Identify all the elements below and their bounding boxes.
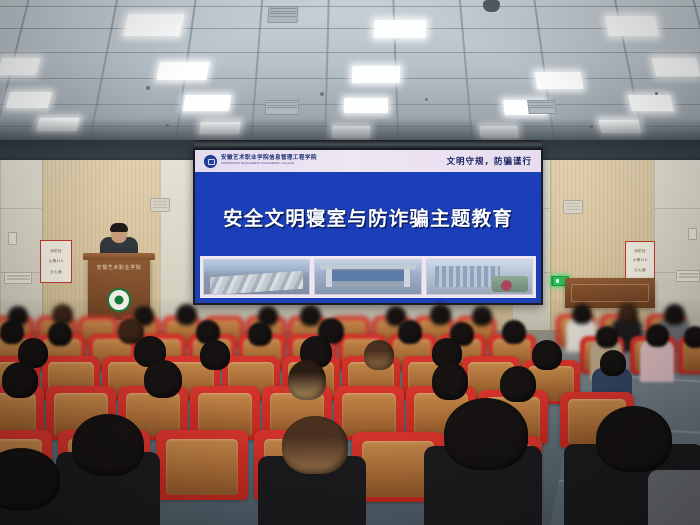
light-switch-plate[interactable]: [8, 232, 17, 245]
ceiling-camera: [483, 0, 500, 12]
sprinkler-dot: [320, 92, 324, 96]
audience-head: [664, 304, 685, 325]
audience-head: [300, 305, 321, 326]
projection-screen: 安徽艺术职业学院信息管理工程学院 INFORMATION MANAGEMENT …: [193, 148, 543, 305]
safety-sign-left: 消防栓 火警119 灭火器: [40, 240, 72, 283]
slide-title: 安全文明寝室与防诈骗主题教育: [223, 202, 513, 231]
light-switch-plate[interactable]: [688, 228, 697, 240]
sprinkler-dot: [425, 98, 428, 101]
campus-photo-gate: [314, 259, 421, 295]
audience-head: [432, 362, 468, 400]
wall-speaker: [563, 200, 583, 214]
ceiling-lamp: [352, 66, 401, 83]
audience-head: [596, 326, 618, 348]
audience-head: [248, 322, 272, 346]
sprinkler-dot: [146, 86, 150, 90]
audience-head: [596, 406, 672, 472]
presentation-slide: 安徽艺术职业学院信息管理工程学院 INFORMATION MANAGEMENT …: [195, 150, 541, 303]
ceiling-lamp: [344, 98, 388, 113]
audience-head: [282, 416, 348, 474]
safety-sign-line: 消防栓: [634, 249, 646, 254]
safety-sign-line: 灭火器: [50, 270, 62, 275]
audience-head: [600, 350, 626, 376]
audience-head: [472, 306, 492, 326]
school-logo-icon: [204, 155, 217, 168]
ceiling-lamp: [628, 95, 674, 111]
audience-head: [502, 320, 526, 344]
safety-sign-line: 灭火器: [634, 268, 646, 273]
audience-head: [2, 362, 38, 398]
audience-head: [364, 340, 394, 370]
audience-torso: [648, 470, 700, 525]
audience-head: [444, 398, 528, 470]
audience-head: [0, 320, 24, 344]
slide-title-zone: 安全文明寝室与防诈骗主题教育: [195, 172, 541, 260]
ceiling-lamp: [123, 14, 184, 36]
wall-speaker: [150, 198, 170, 212]
audience-head: [646, 324, 669, 347]
ceiling-lamp: [374, 20, 427, 38]
ceiling-lamp: [156, 62, 209, 80]
audience-head: [398, 320, 422, 344]
podium-top: [83, 253, 155, 260]
audience-head: [176, 304, 197, 325]
ceiling-lamp: [535, 72, 584, 89]
audience-head: [618, 303, 638, 324]
ceiling-vent: [267, 6, 298, 23]
seat: [156, 430, 248, 500]
ceiling-lamp: [605, 16, 659, 36]
safety-sign-right: 消防栓 火警119 灭火器: [625, 241, 655, 280]
audience-head: [200, 340, 230, 370]
safety-sign-line: 消防栓: [50, 249, 62, 254]
campus-photo-building: [426, 259, 533, 295]
audience-head: [572, 304, 592, 324]
ceiling-lamp: [0, 58, 40, 75]
audience-head: [48, 322, 72, 346]
school-crest-icon: [107, 288, 131, 312]
outlet-plate[interactable]: [4, 272, 32, 284]
ceiling-vent: [527, 100, 557, 114]
ceiling-lamp: [183, 95, 232, 111]
institution-name-en: INFORMATION MANAGEMENT ENGINEERING COLLE…: [221, 163, 317, 166]
safety-sign-line: 火警119: [49, 259, 63, 264]
audience-head: [430, 304, 451, 325]
lecture-hall-photo: 消防栓 火警119 灭火器 消防栓 火警119 灭火器 安徽艺术职业学院信息管理…: [0, 0, 700, 525]
outlet-plate[interactable]: [676, 270, 700, 282]
slide-photo-strip: [200, 256, 536, 298]
ceiling-lamp: [6, 92, 52, 108]
audience-head: [684, 326, 700, 348]
institution-brand: 安徽艺术职业学院信息管理工程学院 INFORMATION MANAGEMENT …: [204, 155, 317, 168]
ceiling: [0, 0, 700, 152]
ceiling-lamp: [652, 58, 700, 76]
sprinkler-dot: [655, 92, 658, 95]
slide-slogan: 文明守规，防骗谨行: [446, 155, 532, 167]
audience-head: [72, 414, 144, 476]
audience-head: [532, 340, 562, 370]
podium-label: 安徽艺术职业学院: [88, 264, 150, 271]
ceiling-vent: [265, 100, 300, 115]
audience-head: [144, 360, 182, 398]
audience-head: [288, 360, 326, 400]
audience-head: [500, 366, 536, 402]
slide-header: 安徽艺术职业学院信息管理工程学院 INFORMATION MANAGEMENT …: [195, 150, 541, 172]
campus-photo-aerial: [203, 259, 310, 295]
speaker-hair: [110, 223, 128, 232]
safety-sign-line: 火警119: [633, 258, 647, 263]
